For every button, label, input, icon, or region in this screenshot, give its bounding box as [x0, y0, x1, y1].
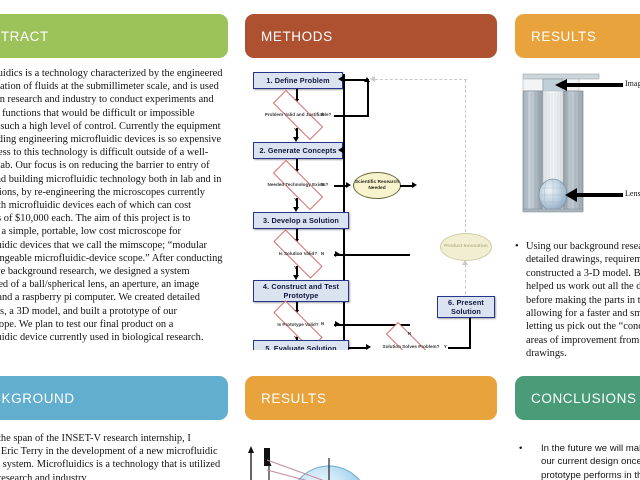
panel-abstract-header: ABSTRACT [0, 14, 228, 58]
panel-results-bottom-title: RESULTS [261, 391, 326, 406]
panel-conclusions-body: • In the future we will make improvement… [515, 420, 640, 480]
flow-decision-1-label: Problem Valid and Justifiable? [263, 112, 334, 117]
flow-step-3: 3. Develop a Solution [253, 212, 349, 229]
panel-abstract-title: ABSTRACT [0, 29, 49, 44]
flow-step-5-label: 5. Evaluate Solution [265, 344, 336, 351]
flow-step-6: 6. Present Solution [437, 296, 495, 318]
flow-step-3-label: 3. Develop a Solution [263, 216, 339, 225]
flow-decision-2: Needed Technology Exists? [261, 172, 335, 198]
panel-conclusions: CONCLUSIONS • In the future we will make… [515, 376, 640, 480]
panel-conclusions-header: CONCLUSIONS [515, 376, 640, 420]
microscope-cad-image: Image sensor Lens [515, 68, 640, 236]
background-text: During the span of the INSET-V research … [0, 432, 224, 480]
abstract-text: Microfluidics is a technology characteri… [0, 67, 224, 344]
flow-decision-3-no: N [321, 251, 324, 256]
panel-methods-title: METHODS [261, 29, 333, 44]
flow-step-6-label: 6. Present Solution [438, 298, 494, 316]
flow-oval-research: Scientific Research Needed [353, 172, 401, 199]
bullet-marker: • [515, 240, 526, 361]
flow-step-1: 1. Define Problem [253, 72, 343, 89]
conclusions-bullet: • In the future we will make improvement… [519, 442, 640, 480]
results-top-bullet: • Using our background research we creat… [515, 240, 640, 361]
flow-step-2: 2. Generate Concepts [253, 142, 343, 159]
numerical-aperture-diagram: Dd NA = 2d(n−1) nD [245, 430, 497, 480]
research-poster: ABSTRACT Microfluidics is a technology c… [0, 0, 640, 480]
panel-abstract: ABSTRACT Microfluidics is a technology c… [0, 14, 228, 344]
flow-decision-4-label: Is Prototype Valid? [275, 322, 320, 327]
flow-step-1-label: 1. Define Problem [266, 76, 329, 85]
results-top-bullet-text: Using our background research we created… [526, 240, 640, 361]
panel-background-header: BACKGROUND [0, 376, 228, 420]
conclusions-bullet-text: In the future we will make improvements … [541, 442, 640, 480]
flow-step-2-label: 2. Generate Concepts [259, 146, 336, 155]
flow-decision-4-no: N [321, 321, 324, 326]
flow-oval-innovation-label: Product Innovation [444, 244, 488, 250]
panel-results-bottom: RESULTS [245, 376, 497, 480]
panel-results-top-body: Image sensor Lens • Using our background… [515, 58, 640, 361]
flow-decision-1: Problem Valid and Justifiable? [261, 102, 335, 128]
flow-step-4-label: 4. Construct and Test Prototype [254, 282, 348, 300]
panel-results-bottom-body: Dd NA = 2d(n−1) nD [245, 420, 497, 480]
flow-decision-5-no: N [408, 331, 411, 336]
flow-decision-5: Solution Solves Problem? [373, 335, 449, 350]
panel-conclusions-title: CONCLUSIONS [531, 391, 637, 406]
panel-background: BACKGROUND During the span of the INSET-… [0, 376, 228, 480]
flow-step-5: 5. Evaluate Solution [253, 340, 349, 350]
flow-oval-innovation: Product Innovation [440, 233, 492, 261]
flow-step-4: 4. Construct and Test Prototype [253, 280, 349, 302]
panel-methods-body: 1. Define Problem Problem Valid and Just… [245, 58, 497, 350]
panel-results-bottom-header: RESULTS [245, 376, 497, 420]
flow-decision-5-yes: Y [444, 344, 447, 349]
panel-background-title: BACKGROUND [0, 391, 75, 406]
panel-methods-header: METHODS [245, 14, 497, 58]
engineering-design-flowchart: 1. Define Problem Problem Valid and Just… [247, 68, 495, 350]
label-lens: Lens [625, 189, 640, 198]
panel-methods: METHODS 1. Define Problem Problem Valid … [245, 14, 497, 350]
panel-background-body: During the span of the INSET-V research … [0, 420, 228, 480]
panel-results-top-title: RESULTS [531, 29, 596, 44]
flow-decision-2-label: Needed Technology Exists? [266, 182, 331, 187]
flow-decision-3-label: Is Solution Valid? [277, 251, 319, 256]
bullet-marker: • [519, 442, 541, 480]
panel-results-top: RESULTS [515, 14, 640, 361]
flow-oval-research-label: Scientific Research Needed [354, 180, 400, 191]
label-image-sensor: Image sensor [625, 79, 640, 88]
panel-abstract-body: Microfluidics is a technology characteri… [0, 58, 228, 344]
flow-decision-5-label: Solution Solves Problem? [381, 344, 442, 349]
panel-results-top-header: RESULTS [515, 14, 640, 58]
